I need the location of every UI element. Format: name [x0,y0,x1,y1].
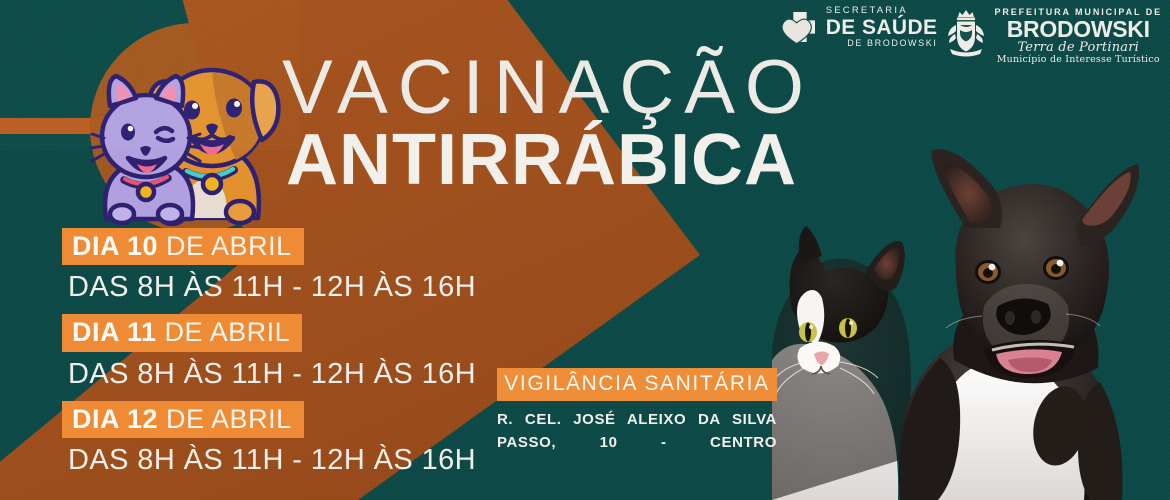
logo-secretaria-de-saude: SECRETARIA DE SAÚDE DE BRODOWSKI [780,6,938,48]
logo-saude-line2: DE SAÚDE [826,17,938,38]
hours-2: DAS 8H ÀS 11H - 12H ÀS 16H [68,360,476,389]
vaccination-campaign-banner: VACINAÇÃO ANTIRRÁBICA DIA 10 DE ABRIL DA… [0,0,1170,500]
heart-cross-icon [780,7,820,47]
schedule-item-3: DIA 12 DE ABRIL DAS 8H ÀS 11H - 12H ÀS 1… [62,401,476,475]
location-address: R. CEL. JOSÉ ALEIXO DA SILVA PASSO, 10 -… [497,408,777,455]
day-month-2: DE ABRIL [157,317,291,347]
day-month-1: DE ABRIL [158,231,292,261]
cat-dog-cartoon-mascots [88,22,298,232]
logo-prefeitura-line2: BRODOWSKI [994,18,1162,41]
day-badge-1: DIA 10 DE ABRIL [62,228,304,265]
logo-prefeitura-municipal: PREFEITURA MUNICIPAL DE BRODOWSKI Terra … [943,6,1162,65]
dog-photo [899,149,1139,500]
logo-prefeitura-text: PREFEITURA MUNICIPAL DE BRODOWSKI Terra … [994,8,1162,65]
location-title: VIGILÂNCIA SANITÁRIA [497,368,777,401]
location-block: VIGILÂNCIA SANITÁRIA R. CEL. JOSÉ ALEIXO… [497,368,777,455]
day-badge-3: DIA 12 DE ABRIL [62,401,304,438]
schedule-list: DIA 10 DE ABRIL DAS 8H ÀS 11H - 12H ÀS 1… [62,228,476,487]
coat-of-arms-icon [943,8,989,58]
logo-prefeitura-line4: Município de Interesse Turístico [994,55,1162,65]
address-line-1: R. CEL. JOSÉ ALEIXO DA SILVA [497,408,777,431]
day-number-2: DIA 11 [72,317,157,347]
address-line-2: PASSO, 10 - CENTRO [497,431,777,454]
day-badge-2: DIA 11 DE ABRIL [62,314,302,351]
logo-prefeitura-line3: Terra de Portinari [994,41,1162,54]
hours-3: DAS 8H ÀS 11H - 12H ÀS 16H [68,446,476,475]
title-line-vacinacao: VACINAÇÃO [282,52,814,124]
day-month-3: DE ABRIL [158,404,292,434]
schedule-item-1: DIA 10 DE ABRIL DAS 8H ÀS 11H - 12H ÀS 1… [62,228,476,302]
cat-photo [772,226,911,500]
cat-and-dog-photo [770,110,1170,500]
title-line-antirrabica: ANTIRRÁBICA [286,126,814,195]
schedule-item-2: DIA 11 DE ABRIL DAS 8H ÀS 11H - 12H ÀS 1… [62,314,476,388]
logo-saude-line1: SECRETARIA [826,6,938,16]
campaign-title: VACINAÇÃO ANTIRRÁBICA [282,52,814,195]
day-number-1: DIA 10 [72,231,158,261]
hours-1: DAS 8H ÀS 11H - 12H ÀS 16H [68,273,476,302]
logo-group: SECRETARIA DE SAÚDE DE BRODOWSKI [780,6,1162,65]
day-number-3: DIA 12 [72,404,158,434]
logo-saude-text: SECRETARIA DE SAÚDE DE BRODOWSKI [826,6,938,48]
logo-saude-line3: DE BRODOWSKI [826,39,938,48]
